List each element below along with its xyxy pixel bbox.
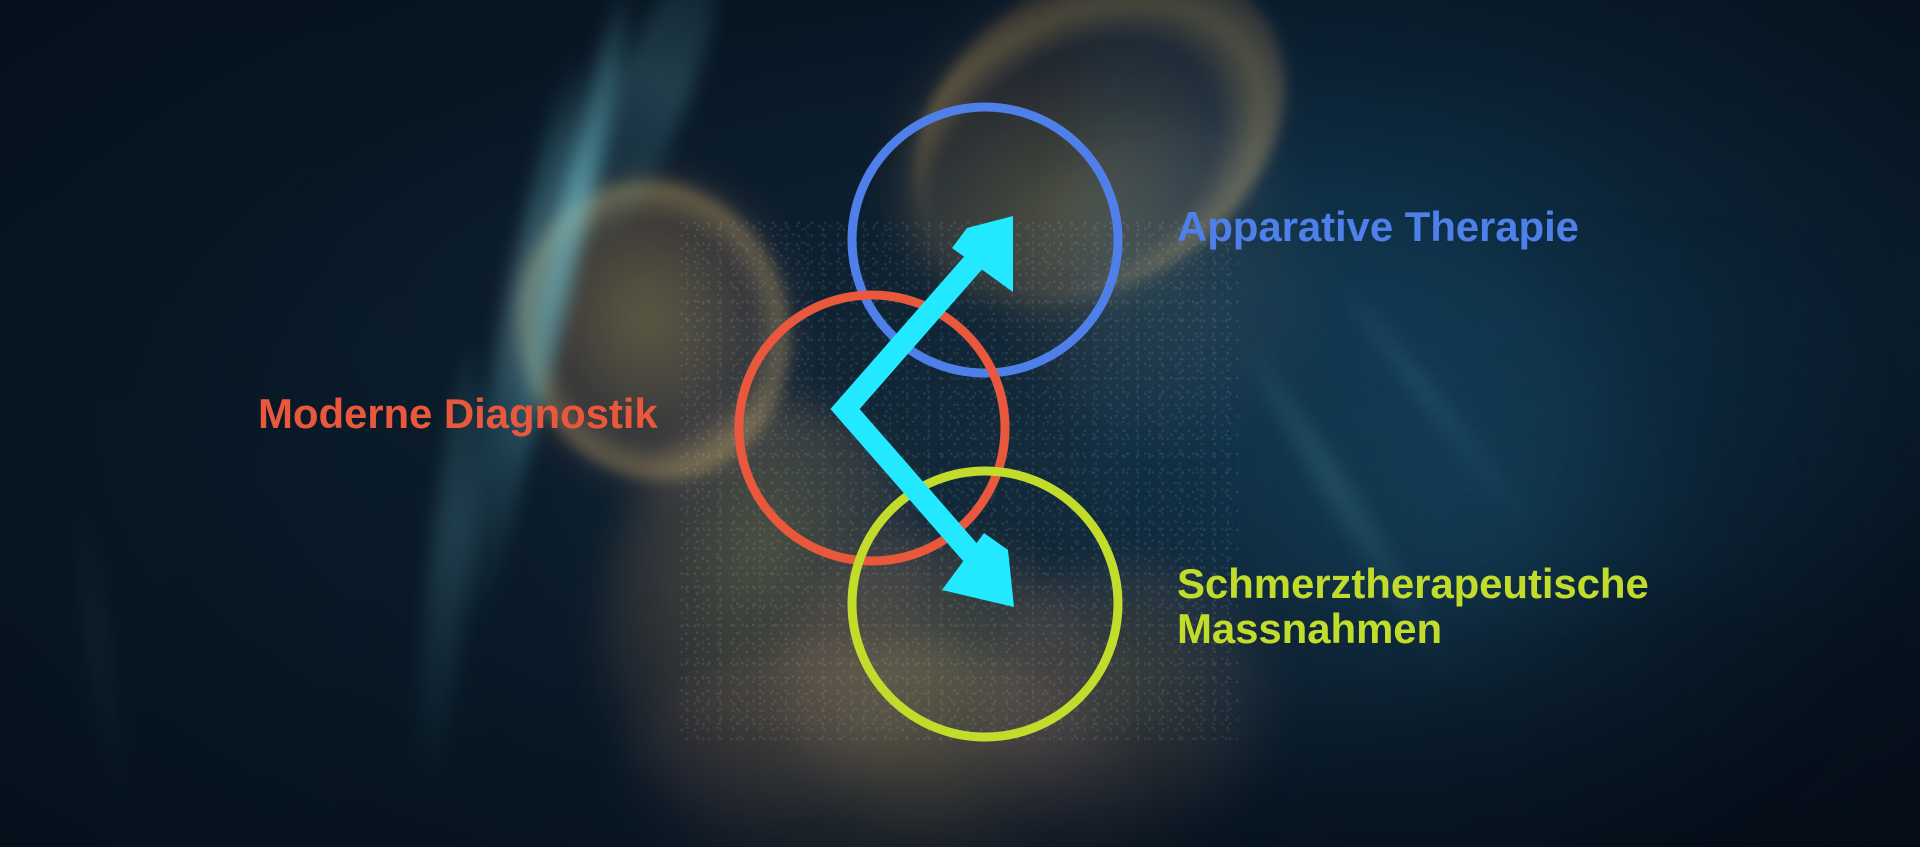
slide-canvas: Apparative Therapie Moderne Diagnostik S… bbox=[0, 0, 1920, 847]
label-moderne-diagnostik: Moderne Diagnostik bbox=[258, 392, 658, 437]
label-schmerztherapeutische-massnahmen: Schmerztherapeutische Massnahmen bbox=[1177, 562, 1649, 652]
circle-schmerztherapeutische-massnahmen[interactable] bbox=[852, 471, 1118, 737]
label-apparative-therapie: Apparative Therapie bbox=[1177, 205, 1579, 250]
